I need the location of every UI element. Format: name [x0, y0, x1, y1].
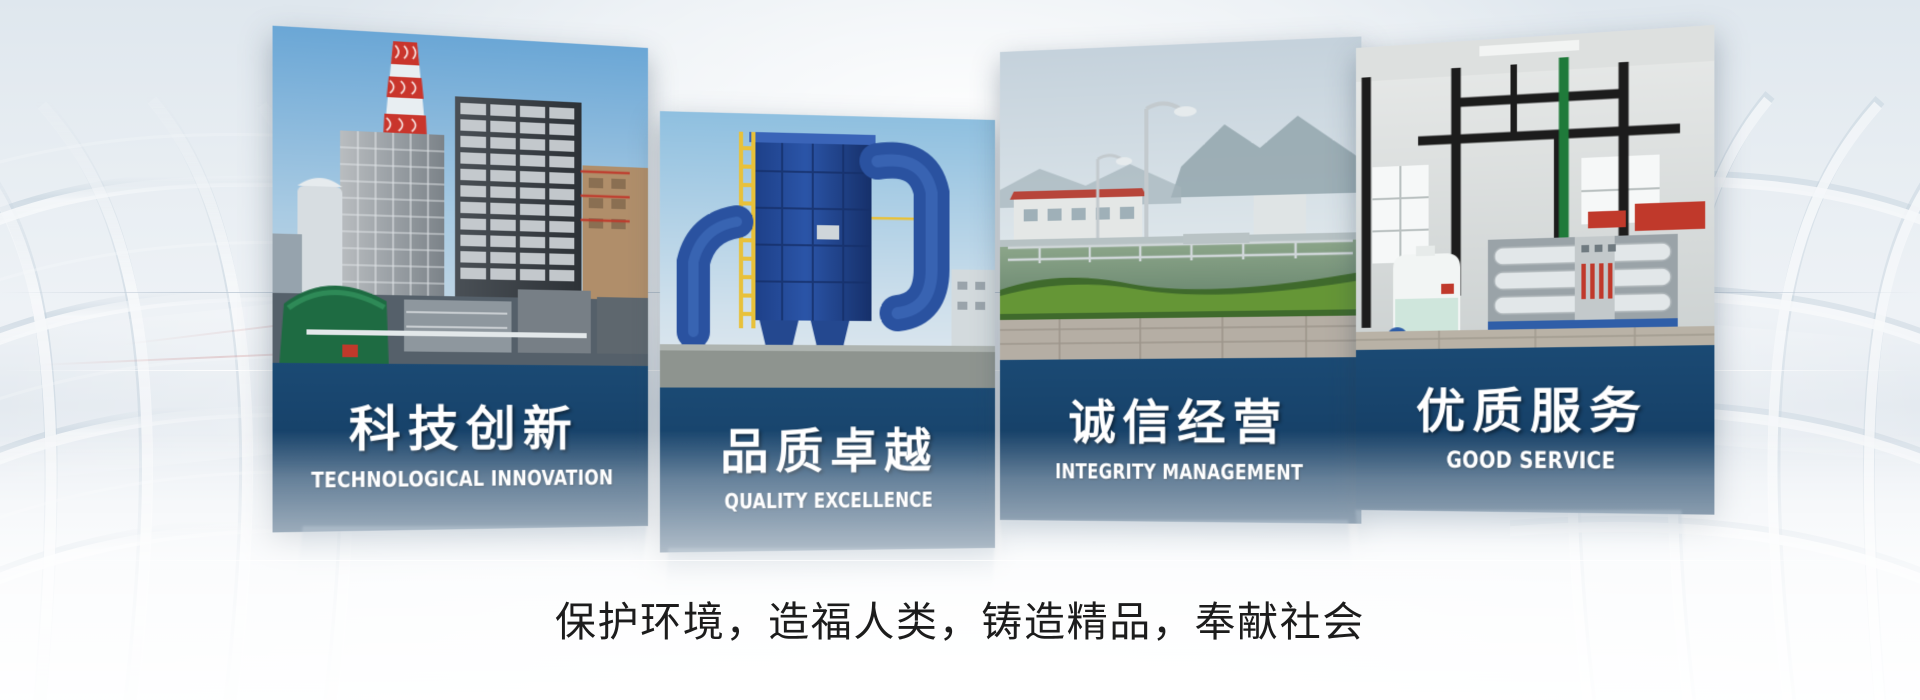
panel-photo-good-service	[1356, 25, 1714, 350]
panel-quality-excellence[interactable]: 品质卓越 QUALITY EXCELLENCE	[660, 111, 995, 552]
panel-title-cn: 品质卓越	[720, 428, 938, 477]
panel-title-en: GOOD SERVICE	[1446, 450, 1615, 473]
panel-reflection	[297, 526, 646, 578]
panel-title-en: QUALITY EXCELLENCE	[725, 489, 934, 511]
panel-reflection	[1000, 520, 1352, 572]
panel-band-technological-innovation: 科技创新 TECHNOLOGICAL INNOVATION	[273, 363, 648, 533]
panel-photo-quality-excellence	[660, 111, 995, 388]
panel-band-integrity-management: 诚信经营 INTEGRITY MANAGEMENT	[1000, 357, 1361, 524]
panel-good-service[interactable]: 优质服务 GOOD SERVICE	[1356, 25, 1714, 515]
panel-band-quality-excellence: 品质卓越 QUALITY EXCELLENCE	[660, 388, 995, 553]
panel-row: 科技创新 TECHNOLOGICAL INNOVATION	[0, 0, 1920, 580]
panel-integrity-management[interactable]: 诚信经营 INTEGRITY MANAGEMENT	[1000, 36, 1361, 523]
panel-photo-integrity-management	[1000, 36, 1361, 360]
panel-title-cn: 诚信经营	[1068, 399, 1288, 448]
panel-reflection	[1355, 510, 1686, 560]
panel-technological-innovation[interactable]: 科技创新 TECHNOLOGICAL INNOVATION	[273, 26, 648, 533]
panel-title-cn: 优质服务	[1416, 386, 1649, 435]
banner-stage: 科技创新 TECHNOLOGICAL INNOVATION	[0, 0, 1920, 700]
banner-tagline: 保护环境，造福人类，铸造精品，奉献社会	[0, 588, 1920, 648]
panel-title-cn: 科技创新	[349, 405, 579, 454]
panel-band-good-service: 优质服务 GOOD SERVICE	[1356, 345, 1714, 515]
panel-title-en: INTEGRITY MANAGEMENT	[1055, 461, 1303, 483]
panel-photo-technological-innovation	[273, 26, 648, 366]
panel-title-en: TECHNOLOGICAL INNOVATION	[311, 467, 613, 490]
